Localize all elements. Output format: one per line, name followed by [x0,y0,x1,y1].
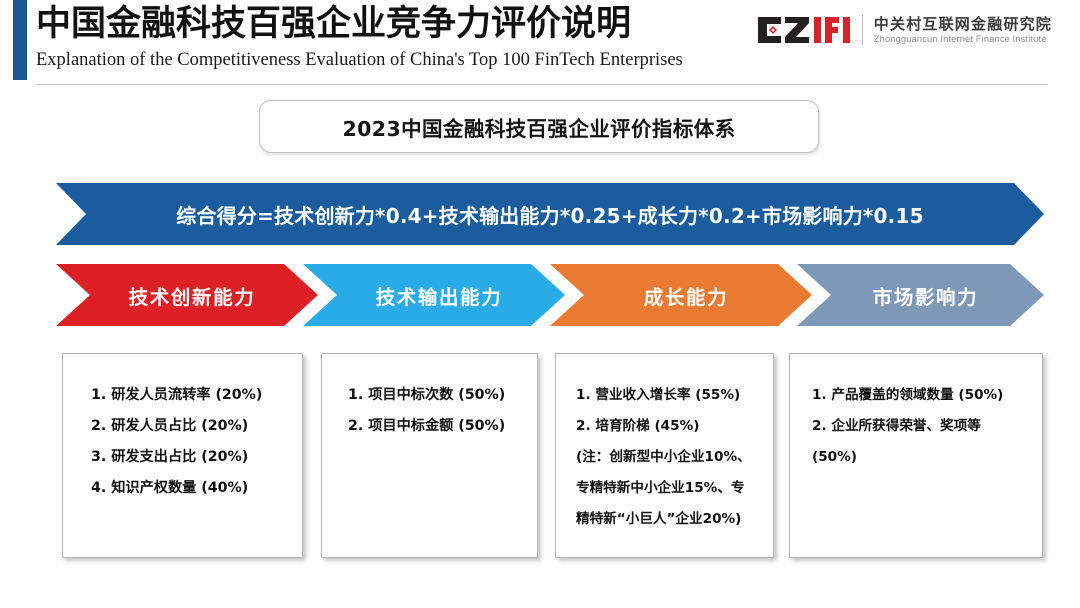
indicator-line: 2. 培育阶梯 (45%) [570,411,759,442]
title-block: 中国金融科技百强企业竞争力评价说明 Explanation of the Com… [36,2,683,72]
header-accent-bar [13,0,27,80]
indicator-card-growth: 1. 营业收入增长率 (55%) 2. 培育阶梯 (45%) (注：创新型中小企… [555,353,774,558]
page-subtitle: Explanation of the Competitiveness Evalu… [36,48,683,72]
indicator-line: 2. 研发人员占比 (20%) [77,411,288,442]
dimension-chevron-label: 技术创新能力 [119,281,256,310]
czifi-logo-icon [756,15,852,45]
indicator-line: 1. 营业收入增长率 (55%) [570,380,759,411]
page-title: 中国金融科技百强企业竞争力评价说明 [36,2,683,46]
indicator-note-line: 专精特新中小企业15%、专 [570,473,759,504]
dimension-chevron-growth[interactable]: 成长能力 [550,264,812,326]
dimension-chevron-technology-output[interactable]: 技术输出能力 [303,264,565,326]
institute-logo: 中关村互联网金融研究院 Zhongguancun Internet Financ… [756,10,1052,50]
indicator-line: 3. 研发支出占比 (20%) [77,442,288,473]
dimension-chevron-row: 技术创新能力 技术输出能力 成长能力 市场影响力 [0,264,1080,326]
indicator-card-market-influence: 1. 产品覆盖的领域数量 (50%) 2. 企业所获得荣誉、奖项等 (50%) [789,353,1043,558]
indicator-line: 4. 知识产权数量 (40%) [77,473,288,504]
dimension-chevron-label: 市场影响力 [863,281,979,310]
indicator-line: (50%) [804,442,1028,473]
indicator-line: 1. 研发人员流转率 (20%) [77,380,288,411]
indicator-line: 1. 产品覆盖的领域数量 (50%) [804,380,1028,411]
indicator-line: 2. 企业所获得荣誉、奖项等 [804,411,1028,442]
indicator-note-line: (注：创新型中小企业10%、 [570,442,759,473]
dimension-chevron-label: 成长能力 [634,281,728,310]
system-title-text: 2023中国金融科技百强企业评价指标体系 [342,112,735,142]
indicator-card-technology-innovation: 1. 研发人员流转率 (20%) 2. 研发人员占比 (20%) 3. 研发支出… [62,353,303,558]
dimension-chevron-market-influence[interactable]: 市场影响力 [797,264,1044,326]
dimension-chevron-label: 技术输出能力 [366,281,503,310]
indicator-line: 2. 项目中标金额 (50%) [336,411,523,442]
logo-name-en: Zhongguancun Internet Finance Institute [874,33,1052,46]
indicator-note-line: 精特新“小巨人”企业20%) [570,504,759,535]
score-formula-banner: 综合得分=技术创新力*0.4+技术输出能力*0.25+成长力*0.2+市场影响力… [56,183,1044,245]
header-divider [36,84,1048,85]
indicator-card-row: 1. 研发人员流转率 (20%) 2. 研发人员占比 (20%) 3. 研发支出… [0,353,1080,563]
logo-name-cn: 中关村互联网金融研究院 [874,15,1052,33]
score-formula-text: 综合得分=技术创新力*0.4+技术输出能力*0.25+成长力*0.2+市场影响力… [176,200,923,229]
indicator-line: 1. 项目中标次数 (50%) [336,380,523,411]
indicator-card-technology-output: 1. 项目中标次数 (50%) 2. 项目中标金额 (50%) [321,353,538,558]
dimension-chevron-technology-innovation[interactable]: 技术创新能力 [56,264,318,326]
logo-divider [862,15,863,45]
system-title-box: 2023中国金融科技百强企业评价指标体系 [259,100,819,153]
logo-text-block: 中关村互联网金融研究院 Zhongguancun Internet Financ… [874,15,1052,46]
page-header: 中国金融科技百强企业竞争力评价说明 Explanation of the Com… [0,0,1080,86]
